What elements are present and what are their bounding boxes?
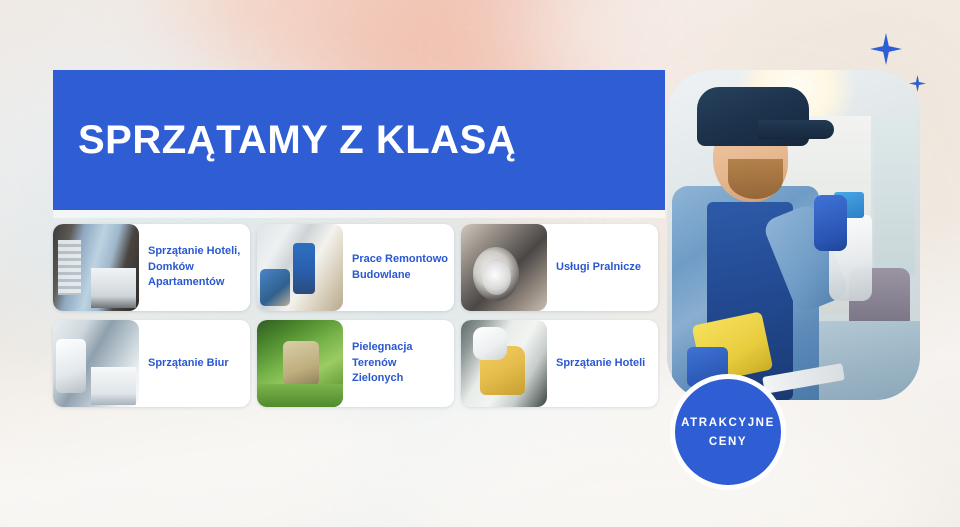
service-card-sprzatanie-hoteli[interactable]: Sprzątanie Hoteli (461, 320, 658, 407)
page-title: SPRZĄTAMY Z KLASĄ (78, 120, 516, 160)
gloved-hand-wiping-photo (461, 320, 547, 407)
service-card-uslugi-pralnicze[interactable]: Usługi Pralnicze (461, 224, 658, 311)
service-thumbnail (257, 224, 343, 311)
badge-line-1: ATRAKCYJNE (681, 417, 775, 429)
content-panel-strip (53, 210, 665, 218)
service-card-sprzatanie-hoteli-domkow[interactable]: Sprzątanie Hoteli, Domków Apartamentów (53, 224, 250, 311)
washing-machine-photo (461, 224, 547, 311)
status-badge[interactable]: ATRAKCYJNE CENY (670, 374, 786, 490)
service-thumbnail (257, 320, 343, 407)
service-card-label: Sprzątanie Biur (139, 320, 250, 407)
hero-photo (667, 70, 920, 400)
photo-beard (728, 159, 784, 199)
photo-window (874, 116, 914, 274)
renovation-workers-photo (257, 224, 343, 311)
photo-blue-glove (814, 195, 847, 251)
poster-canvas: SPRZĄTAMY Z KLASĄ Sprzątanie Hoteli, Dom… (0, 0, 960, 527)
service-card-label: Sprzątanie Hoteli, Domków Apartamentów (139, 224, 250, 311)
service-card-row: Sprzątanie Biur Pielegnacja Terenów Ziel… (53, 320, 659, 407)
service-card-label: Usługi Pralnicze (547, 224, 658, 311)
office-cleaning-photo (53, 320, 139, 407)
service-card-label: Prace Remontowo Budowlane (343, 224, 454, 311)
hotel-housekeeping-photo (53, 224, 139, 311)
service-thumbnail (461, 320, 547, 407)
service-card-prace-remontowo-budowlane[interactable]: Prace Remontowo Budowlane (257, 224, 454, 311)
gardener-photo (257, 320, 343, 407)
service-card-label: Sprzątanie Hoteli (547, 320, 658, 407)
service-thumbnail (53, 224, 139, 311)
service-thumbnail (461, 224, 547, 311)
service-card-grid: Sprzątanie Hoteli, Domków Apartamentów P… (53, 224, 659, 407)
service-card-pielegnacja-terenow-zielonych[interactable]: Pielegnacja Terenów Zielonych (257, 320, 454, 407)
service-thumbnail (53, 320, 139, 407)
badge-line-2: CENY (709, 436, 747, 448)
service-card-row: Sprzątanie Hoteli, Domków Apartamentów P… (53, 224, 659, 311)
service-card-sprzatanie-biur[interactable]: Sprzątanie Biur (53, 320, 250, 407)
service-card-label: Pielegnacja Terenów Zielonych (343, 320, 454, 407)
photo-cap-visor (758, 120, 834, 140)
smiling-cleaner-with-spray-bottle (667, 70, 920, 400)
